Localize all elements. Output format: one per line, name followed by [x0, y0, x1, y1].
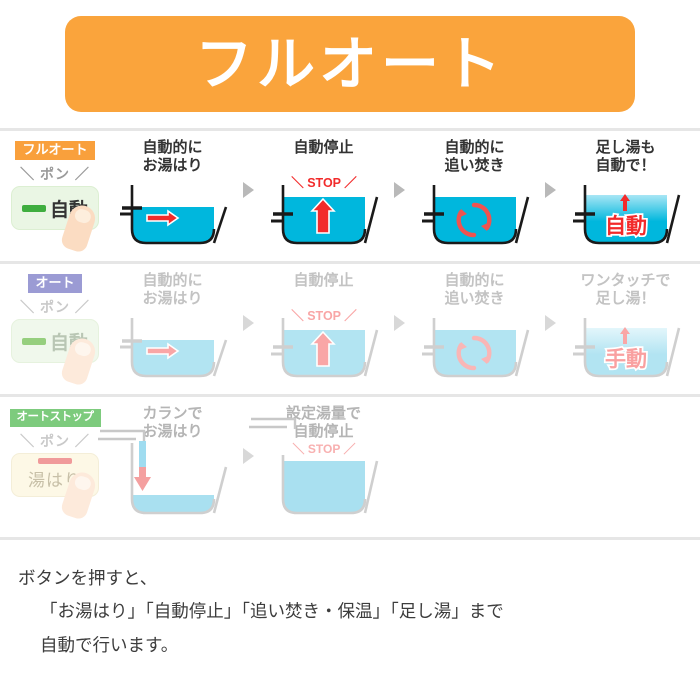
- step-separator: [235, 397, 261, 515]
- button-indicator-bar: [22, 205, 46, 212]
- steps-auto-stop: カランで お湯はり 設定湯量で 自動停止: [110, 397, 700, 517]
- step-caption: 足し湯も 自動で！: [563, 139, 688, 179]
- tub-illustration-faucet-stop: ＼ STOP ／: [265, 447, 383, 517]
- step-separator: [386, 131, 412, 249]
- tub-reheat-icon: [416, 181, 534, 251]
- row-full-auto: フルオート ＼ ポン ／ 自動 自動的に お湯はり 自動: [0, 131, 700, 261]
- step-separator: [235, 131, 261, 249]
- step-fill: 自動的に お湯はり: [110, 264, 235, 384]
- tub-illustration-reheat: [416, 181, 534, 251]
- footer-line-3: 自動で行います。: [18, 633, 700, 658]
- tub-illustration-stop: ＼ STOP ／: [265, 314, 383, 384]
- tub-illustration-refill: 自動: [567, 181, 685, 251]
- step-caption: 自動的に お湯はり: [110, 139, 235, 179]
- footer-line-2: 「お湯はり」「自動停止」「追い焚き・保温」「足し湯」まで: [18, 599, 700, 624]
- tub-refill-icon: 手動: [567, 314, 685, 384]
- step-separator: [235, 264, 261, 382]
- fill-button-auto-stop[interactable]: 湯はり: [11, 453, 99, 497]
- step-empty-2: [511, 397, 636, 405]
- panel-auto-stop: オートストップ ＼ ポン ／ 湯はり: [0, 397, 110, 497]
- step-caption: ワンタッチで 足し湯！: [563, 272, 688, 312]
- step-faucet-stop: 設定湯量で 自動停止 ＼ STOP ／: [261, 397, 386, 517]
- step-fill: 自動的に お湯はり: [110, 131, 235, 251]
- steps-auto: 自動的に お湯はり 自動停止 ＼ STOP ／: [110, 264, 700, 384]
- button-indicator-bar: [22, 338, 46, 345]
- water-stream: [139, 441, 146, 467]
- auto-button-full-auto[interactable]: 自動: [11, 186, 99, 230]
- step-refill: ワンタッチで 足し湯！ 手動: [563, 264, 688, 384]
- triangle-icon: [394, 182, 405, 198]
- auto-button-auto[interactable]: 自動: [11, 319, 99, 363]
- mode-tag-full-auto: フルオート: [15, 141, 94, 160]
- step-stop: 自動停止 ＼ STOP ／: [261, 264, 386, 384]
- tub-illustration-stop: ＼ STOP ／: [265, 181, 383, 251]
- step-reheat: 自動的に 追い焚き: [412, 131, 537, 251]
- header-banner: フルオート: [65, 16, 635, 112]
- step-empty-1: [386, 397, 511, 405]
- triangle-icon: [243, 315, 254, 331]
- triangle-icon: [243, 448, 254, 464]
- tub-illustration-refill: 手動: [567, 314, 685, 384]
- steps-full-auto: 自動的に お湯はり 自動停止 ＼ STOP ／: [110, 131, 700, 251]
- press-text-auto: ＼ ポン ／: [0, 297, 110, 317]
- step-caption: 自動的に 追い焚き: [412, 139, 537, 179]
- stop-text: ＼ STOP ／: [291, 308, 357, 323]
- panel-auto: オート ＼ ポン ／ 自動: [0, 264, 110, 363]
- step-separator: [537, 264, 563, 382]
- step-refill: 足し湯も 自動で！ 自動: [563, 131, 688, 251]
- step-caption: 自動的に お湯はり: [110, 272, 235, 312]
- tub-refill-icon: 自動: [567, 181, 685, 251]
- step-separator: [386, 264, 412, 382]
- mode-tag-auto-stop: オートストップ: [10, 409, 101, 427]
- step-caption: 自動的に 追い焚き: [412, 272, 537, 312]
- row-auto-stop: オートストップ ＼ ポン ／ 湯はり カランで お湯はり: [0, 397, 700, 537]
- step-caption: 自動停止: [261, 272, 386, 312]
- refill-badge: 手動: [605, 347, 647, 371]
- footer-description: ボタンを押すと、 「お湯はり」「自動停止」「追い焚き・保温」「足し湯」まで 自動…: [0, 540, 700, 658]
- tub-fill-icon: [114, 314, 232, 384]
- tub-reheat-icon: [416, 314, 534, 384]
- triangle-icon: [243, 182, 254, 198]
- tub-illustration-faucet-fill: [114, 447, 232, 517]
- panel-full-auto: フルオート ＼ ポン ／ 自動: [0, 131, 110, 230]
- button-indicator-bar: [38, 458, 72, 464]
- tub-faucet-fill-icon: [114, 447, 232, 523]
- tub-stop-icon: ＼ STOP ／: [265, 181, 383, 251]
- tub-illustration-reheat: [416, 314, 534, 384]
- refill-badge: 自動: [605, 214, 647, 238]
- triangle-icon: [545, 315, 556, 331]
- triangle-icon: [394, 315, 405, 331]
- footer-line-1: ボタンを押すと、: [18, 566, 700, 591]
- header: フルオート: [0, 0, 700, 128]
- tub-faucet-stop-icon: ＼ STOP ／: [265, 447, 383, 523]
- step-stop: 自動停止 ＼ STOP ／: [261, 131, 386, 251]
- stop-text: ＼ STOP ／: [291, 175, 357, 190]
- step-caption: 自動停止: [261, 139, 386, 179]
- row-auto: オート ＼ ポン ／ 自動 自動的に お湯はり 自動停止: [0, 264, 700, 394]
- press-text-auto-stop: ＼ ポン ／: [0, 431, 110, 451]
- tub-stop-icon: ＼ STOP ／: [265, 314, 383, 384]
- step-caption: 設定湯量で 自動停止: [261, 405, 386, 445]
- page-title: フルオート: [195, 35, 505, 93]
- tub-illustration-fill: [114, 314, 232, 384]
- step-separator: [537, 131, 563, 249]
- step-reheat: 自動的に 追い焚き: [412, 264, 537, 384]
- triangle-icon: [545, 182, 556, 198]
- step-faucet-fill: カランで お湯はり: [110, 397, 235, 517]
- tub-fill-icon: [114, 181, 232, 251]
- stop-text: ＼ STOP ／: [292, 441, 355, 456]
- down-arrow-icon: [134, 467, 151, 491]
- tub-illustration-fill: [114, 181, 232, 251]
- press-text-full-auto: ＼ ポン ／: [0, 164, 110, 184]
- mode-tag-auto: オート: [28, 274, 81, 293]
